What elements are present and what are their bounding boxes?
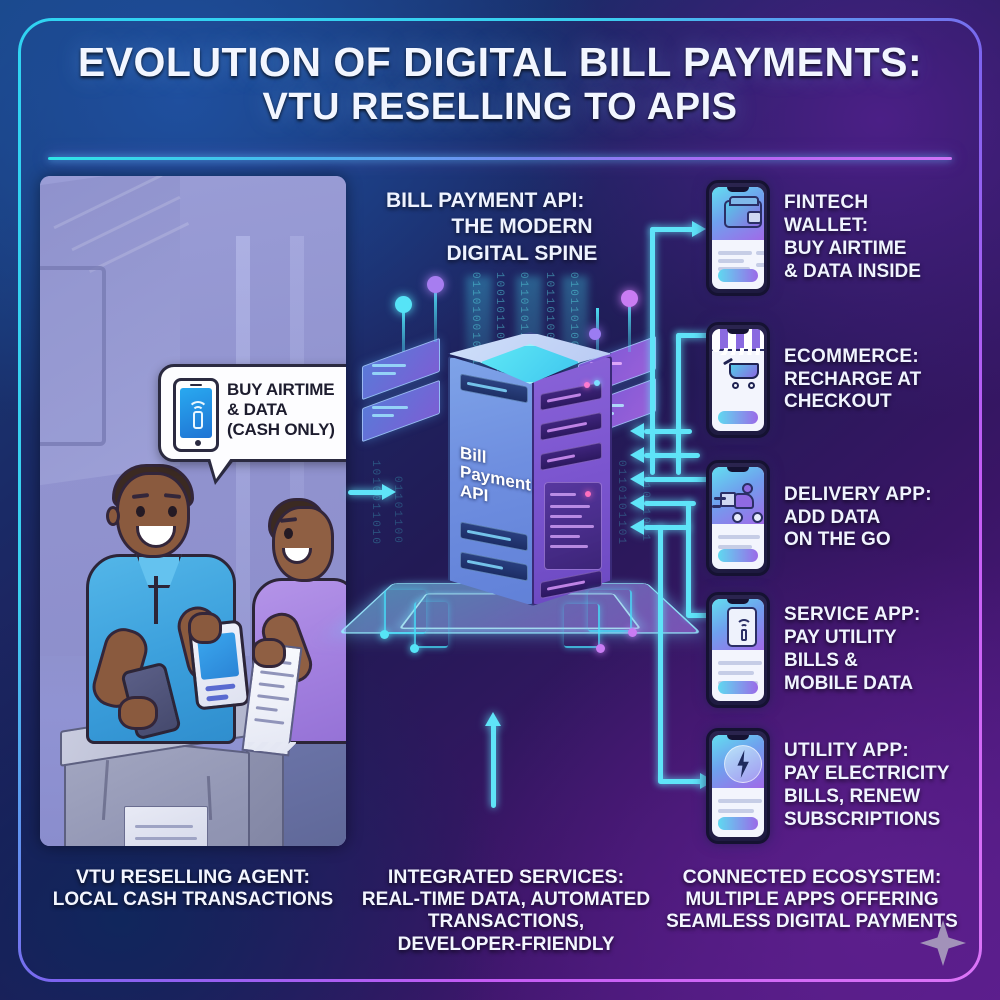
center-heading: BILL PAYMENT API: THE MODERN DIGITAL SPI…: [372, 188, 672, 267]
caption-right-heading: CONNECTED ECOSYSTEM:: [662, 866, 962, 889]
caption-center-heading: INTEGRATED SERVICES:: [356, 866, 656, 889]
app-row-service[interactable]: SERVICE APP: PAY UTILITY BILLS & MOBILE …: [706, 592, 921, 708]
arrow-head: [382, 484, 396, 500]
screen-hero: [712, 187, 764, 240]
phone-mockup-service: [706, 592, 770, 708]
agent-eye-right: [168, 506, 177, 517]
phone-screen: [712, 467, 764, 569]
circuit-dot: [380, 630, 389, 639]
screen-cta-button: [718, 411, 758, 424]
app-label-fintech-wallet: FINTECH WALLET: BUY AIRTIME & DATA INSID…: [784, 192, 921, 283]
connector-inbound-arrowhead: [630, 423, 644, 439]
phone-notch: [190, 384, 202, 386]
center-heading-line-2: THE MODERN: [372, 214, 672, 240]
connector-inbound-arrowhead: [630, 495, 644, 511]
cube-line: [372, 372, 396, 375]
customer-head: [272, 506, 334, 582]
app-heading-line-1: SERVICE APP:: [784, 604, 921, 627]
door-frame: [40, 266, 106, 446]
speech-bubble-text: BUY AIRTIME & DATA (CASH ONLY): [227, 380, 346, 440]
app-heading-line-1: FINTECH: [784, 192, 921, 215]
cube-node: [395, 296, 412, 313]
server-led: [584, 382, 590, 388]
caption-center-line-4: DEVELOPER-FRIENDLY: [356, 934, 656, 956]
title-divider: [48, 157, 952, 160]
app-body-line-1: RECHARGE AT: [784, 369, 921, 392]
app-label-ecommerce: ECOMMERCE: RECHARGE AT CHECKOUT: [784, 346, 921, 414]
app-label-delivery: DELIVERY APP: ADD DATA ON THE GO: [784, 484, 932, 552]
circuit-dot: [410, 644, 419, 653]
screen-hero: [712, 599, 764, 650]
cube-stalk: [434, 286, 437, 342]
connector-3-arrowhead-left: [630, 471, 644, 487]
wifi-device: [741, 629, 747, 641]
flow-arrow-services-to-api: [485, 712, 501, 808]
counter-paper-sign: [124, 806, 208, 846]
signal-device: [193, 411, 203, 429]
customer-hand: [252, 638, 286, 668]
service-wifi-phone-icon: [727, 607, 757, 647]
arrow-shaft: [348, 490, 384, 495]
phone-notch: [727, 599, 749, 604]
screen-text-line: [718, 251, 752, 255]
customer-eye: [284, 528, 293, 539]
arrow-head: [485, 712, 501, 726]
screen-text-line: [718, 809, 754, 813]
app-body-line-1: PAY UTILITY: [784, 627, 921, 650]
screen-text-line: [718, 799, 762, 803]
connector-4-segment: [686, 501, 691, 617]
app-heading-line-1: ECOMMERCE:: [784, 346, 921, 369]
screen-text-line: [718, 671, 754, 675]
server-led: [594, 380, 600, 386]
phone-mockup-utility: [706, 728, 770, 844]
app-row-fintech-wallet[interactable]: FINTECH WALLET: BUY AIRTIME & DATA INSID…: [706, 180, 921, 296]
connector-1-arrowhead: [692, 221, 706, 237]
flow-arrow-agent-to-api: [348, 484, 398, 500]
app-heading-line-2: WALLET:: [784, 215, 921, 238]
panel-led: [585, 491, 591, 497]
phone-screen: [712, 599, 764, 701]
phone-screen: [712, 329, 764, 431]
cube-line: [372, 414, 394, 417]
app-label-utility: UTILITY APP: PAY ELECTRICITY BILLS, RENE…: [784, 740, 949, 831]
app-heading-line-1: DELIVERY APP:: [784, 484, 932, 507]
phone-notch: [727, 329, 749, 334]
shopping-cart-icon: [725, 363, 759, 389]
server-status-panel: [544, 482, 602, 570]
circuit-trace: [564, 604, 600, 648]
server-tower: Bill Payment API: [448, 332, 608, 602]
app-label-service: SERVICE APP: PAY UTILITY BILLS & MOBILE …: [784, 604, 921, 695]
center-heading-line-3: DIGITAL SPINE: [372, 241, 672, 267]
page-title: EVOLUTION OF DIGITAL BILL PAYMENTS: VTU …: [50, 40, 950, 128]
screen-cta-button: [718, 817, 758, 830]
caption-center-line-3: TRANSACTIONS,: [356, 911, 656, 933]
binary-rain: 1010011010: [368, 460, 381, 610]
app-body-line-2: & DATA INSIDE: [784, 261, 921, 284]
screen-text-line: [718, 259, 744, 263]
bubble-line-3: (CASH ONLY): [227, 420, 346, 440]
app-body-line-2: BILLS &: [784, 650, 921, 673]
caption-right-line-2: MULTIPLE APPS OFFERING: [662, 889, 962, 911]
phone-screen: [712, 735, 764, 837]
phone-notch: [727, 735, 749, 740]
title-line-2: VTU RESELLING TO APIS: [50, 86, 950, 129]
connector-inbound-segment: [644, 525, 690, 530]
app-body-line-1: PAY ELECTRICITY: [784, 763, 949, 786]
mobile-signal-icon: [173, 378, 219, 452]
caption-right: CONNECTED ECOSYSTEM: MULTIPLE APPS OFFER…: [662, 866, 962, 934]
bubble-line-1: BUY AIRTIME: [227, 380, 346, 400]
screen-text-line: [718, 661, 762, 665]
connector-inbound-arrowhead: [630, 447, 644, 463]
speed-line: [712, 505, 721, 508]
screen-cta-button: [718, 549, 758, 562]
phone-screen: [712, 187, 764, 289]
agent-hand-left: [118, 696, 158, 730]
phone-mockup-fintech-wallet: [706, 180, 770, 296]
app-body-line-2: BILLS, RENEW: [784, 786, 949, 809]
screen-text-line: [756, 251, 764, 255]
center-heading-line-1: BILL PAYMENT API:: [372, 188, 672, 214]
connector-5-segment: [658, 779, 704, 784]
cube-node: [427, 276, 444, 293]
connector-inbound-segment: [644, 429, 692, 434]
agent-ear: [106, 506, 120, 526]
title-line-1: EVOLUTION OF DIGITAL BILL PAYMENTS:: [50, 40, 950, 86]
caption-left-heading: VTU RESELLING AGENT:: [40, 866, 346, 889]
connector-1-segment: [650, 227, 696, 232]
caption-center: INTEGRATED SERVICES: REAL-TIME DATA, AUT…: [356, 866, 656, 956]
app-row-ecommerce[interactable]: ECOMMERCE: RECHARGE AT CHECKOUT: [706, 322, 921, 438]
app-body-line-3: SUBSCRIPTIONS: [784, 809, 949, 832]
wallet-icon: [724, 200, 762, 228]
infographic-poster: EVOLUTION OF DIGITAL BILL PAYMENTS: VTU …: [0, 0, 1000, 1000]
vtu-agent-illustration: VTU: [40, 176, 346, 846]
phone-notch: [727, 187, 749, 192]
connector-inbound-segment: [644, 453, 700, 458]
arrow-shaft: [491, 724, 496, 808]
bubble-line-2: & DATA: [227, 400, 346, 420]
phone-mockup-delivery: [706, 460, 770, 576]
screen-cta-button: [718, 269, 758, 282]
agent-eye-left: [136, 506, 145, 517]
agent-hand-right: [188, 612, 222, 644]
screen-text-line: [756, 263, 764, 267]
phone-notch: [727, 467, 749, 472]
screen-text-line: [718, 535, 760, 539]
delivery-scooter-icon: [720, 489, 764, 523]
screen-hero: [712, 735, 764, 788]
phone-home-button: [195, 440, 201, 446]
app-body-line-1: BUY AIRTIME: [784, 238, 921, 261]
app-body-line-1: ADD DATA: [784, 507, 932, 530]
phone-mockup-ecommerce: [706, 322, 770, 438]
app-body-line-2: ON THE GO: [784, 529, 932, 552]
caption-right-line-3: SEAMLESS DIGITAL PAYMENTS: [662, 911, 962, 933]
screen-cta-button: [718, 681, 758, 694]
speech-bubble: BUY AIRTIME & DATA (CASH ONLY): [158, 364, 346, 462]
app-body-line-3: MOBILE DATA: [784, 673, 921, 696]
agent-shirt-placket: [154, 576, 158, 624]
connector-inbound-arrowhead: [630, 519, 644, 535]
app-body-line-2: CHECKOUT: [784, 391, 921, 414]
caption-left: VTU RESELLING AGENT: LOCAL CASH TRANSACT…: [40, 866, 346, 911]
circuit-trace: [414, 602, 448, 648]
connector-1-segment: [650, 227, 655, 457]
phone-ui-bar: [206, 694, 228, 701]
cube-line: [372, 364, 406, 367]
speed-line: [714, 497, 726, 500]
phone-ui-bar: [205, 683, 235, 691]
connector-5-segment: [658, 525, 663, 783]
caption-center-line-2: REAL-TIME DATA, AUTOMATED: [356, 889, 656, 911]
screen-hero: [712, 467, 764, 524]
receipt-tear-edge: [248, 742, 296, 751]
app-heading-line-1: UTILITY APP:: [784, 740, 949, 763]
cube-line: [372, 406, 408, 409]
caption-left-body: LOCAL CASH TRANSACTIONS: [40, 889, 346, 911]
circuit-dot: [596, 644, 605, 653]
app-row-delivery[interactable]: DELIVERY APP: ADD DATA ON THE GO: [706, 460, 932, 576]
app-row-utility[interactable]: UTILITY APP: PAY ELECTRICITY BILLS, RENE…: [706, 728, 949, 844]
